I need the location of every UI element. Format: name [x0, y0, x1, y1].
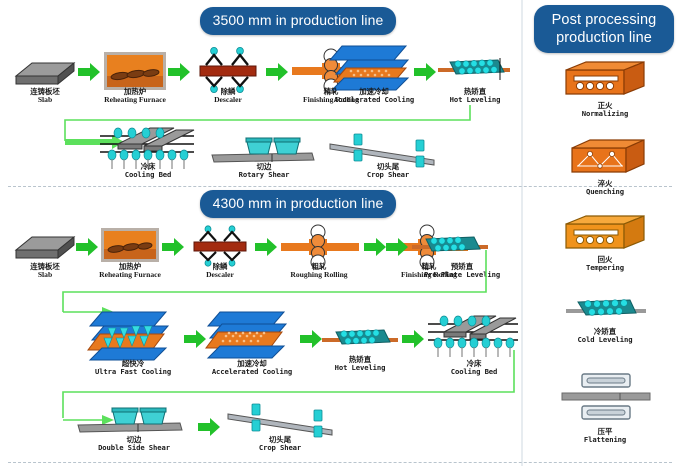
label-quenching: 淬火 Quenching	[565, 180, 645, 196]
label-en: Rotary Shear	[224, 171, 304, 179]
accelerated-cooling-icon	[330, 44, 418, 92]
label-crop-shear-4300: 切头尾 Crop Shear	[240, 436, 320, 452]
arrow-hotleveling-to-coolingbed-4300	[402, 330, 424, 348]
label-en: Double Side Shear	[88, 444, 180, 452]
label-hot-leveling-3500: 热矫直 Hot Leveling	[432, 88, 518, 104]
label-descaler-3500: 除鳞 Descaler	[188, 88, 268, 105]
normalizing-furnace-icon	[566, 62, 644, 98]
label-en: Slab	[5, 96, 85, 105]
title-pill-4300: 4300 mm in production line	[200, 190, 396, 218]
cold-leveling-icon	[566, 296, 646, 324]
arrow-accelerated-to-hotleveling	[414, 63, 436, 81]
label-en: Crop Shear	[240, 444, 320, 452]
label-en: Hot Leveling	[432, 96, 518, 104]
post-processing-line1: Post processing	[552, 11, 657, 29]
label-normalizing: 正火 Normalizing	[565, 102, 645, 118]
arrow-ultrafast-to-accelerated	[184, 330, 206, 348]
reheating-furnace-icon	[104, 52, 166, 90]
process-flow-diagram: 3500 mm in production line 4300 mm in pr…	[0, 0, 680, 466]
title-pill-3500: 3500 mm in production line	[200, 7, 396, 35]
label-en: Normalizing	[565, 110, 645, 118]
double-side-shear-icon	[78, 406, 184, 438]
arrow-descaler-to-finishing	[266, 63, 288, 81]
quenching-furnace-icon	[572, 140, 644, 176]
post-processing-line2: production line	[556, 29, 652, 47]
label-en: Descaler	[188, 96, 268, 105]
flattening-press-icon	[560, 372, 652, 424]
label-en: Tempering	[565, 264, 645, 272]
title-4300-label: 4300 mm in production line	[213, 195, 384, 213]
label-en: Reheating Furnace	[85, 96, 185, 105]
label-double-side-shear: 切边 Double Side Shear	[88, 436, 180, 452]
slab-icon	[14, 58, 76, 88]
label-en: Accelerated Cooling	[316, 96, 432, 104]
label-en: Crop Shear	[348, 171, 428, 179]
tempering-furnace-icon	[566, 216, 644, 252]
arrow-slab-to-furnace	[78, 63, 100, 81]
label-cold-leveling: 冷矫直 Cold Leveling	[565, 328, 645, 344]
title-3500-label: 3500 mm in production line	[213, 12, 384, 30]
arrow-doubleside-to-cropshear	[198, 418, 220, 436]
descaler-icon	[192, 48, 264, 92]
divider-bottom	[8, 462, 672, 463]
label-slab-3500: 连铸板坯 Slab	[5, 88, 85, 105]
label-reheating-furnace-3500: 加热炉 Reheating Furnace	[85, 88, 185, 105]
label-en: Quenching	[565, 188, 645, 196]
arrow-accelerated-to-hotleveling-4300	[300, 330, 322, 348]
label-en: Flattening	[565, 436, 645, 444]
label-en: Cold Leveling	[565, 336, 645, 344]
label-cooling-bed-3500: 冷床 Cooling Bed	[108, 163, 188, 179]
label-rotary-shear-3500: 切边 Rotary Shear	[224, 163, 304, 179]
hot-leveling-icon	[438, 56, 510, 84]
title-pill-post-processing: Post processing production line	[534, 5, 674, 53]
label-accelerated-cooling-3500: 加速冷却 Accelerated Cooling	[316, 88, 432, 104]
label-flattening: 压平 Flattening	[565, 428, 645, 444]
label-tempering: 回火 Tempering	[565, 256, 645, 272]
column-separator	[521, 0, 523, 466]
arrow-furnace-to-descaler	[168, 63, 190, 81]
label-en: Cooling Bed	[108, 171, 188, 179]
label-crop-shear-3500: 切头尾 Crop Shear	[348, 163, 428, 179]
